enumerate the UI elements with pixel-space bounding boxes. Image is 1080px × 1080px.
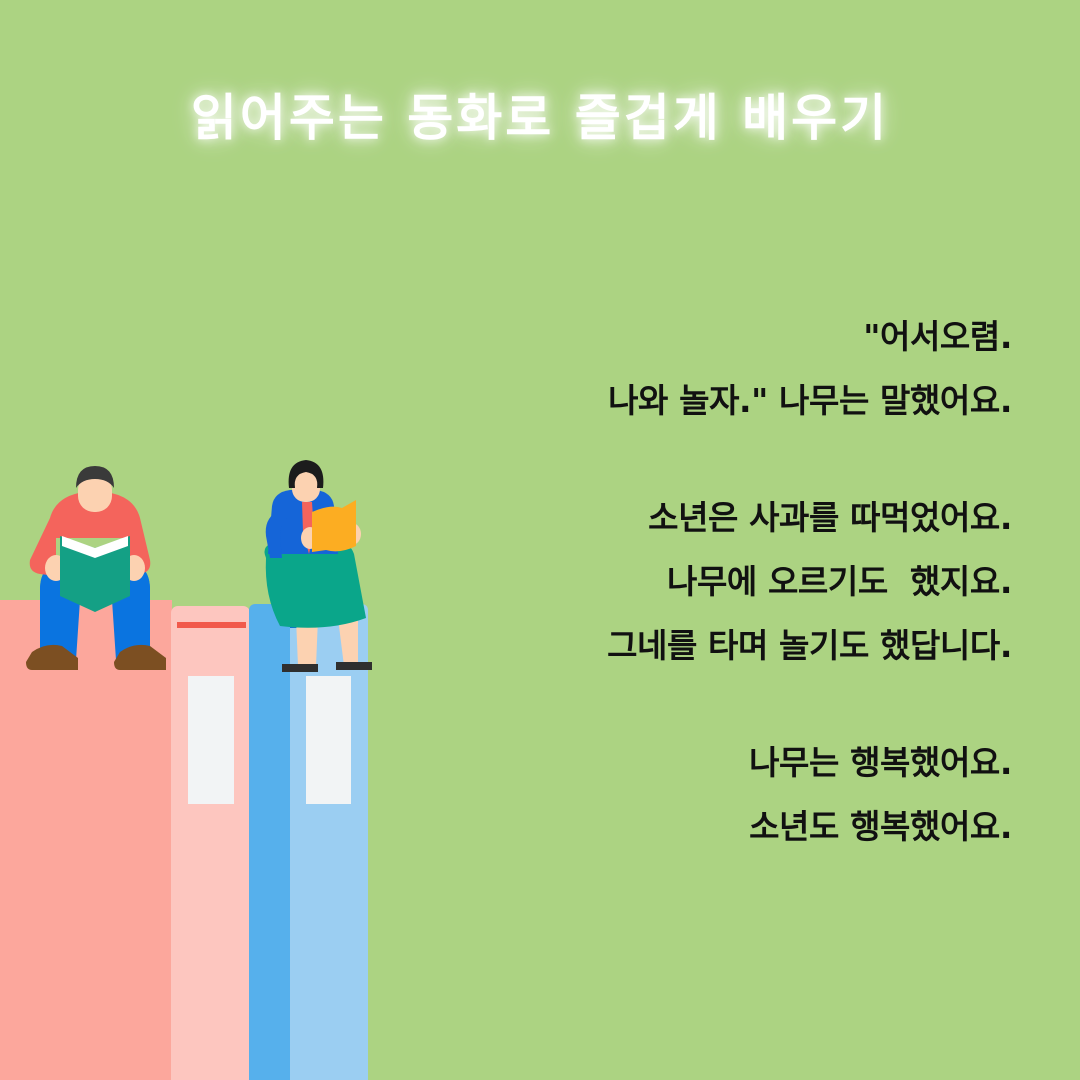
woman-arm [266,512,288,558]
man-book-pages [62,536,128,558]
story-text-block: "어서오렴. 나와 놀자." 나무는 말했어요. 소년은 사과를 따먹었어요. … [292,320,1012,843]
line-gap [292,534,1012,565]
story-line-2: 나와 놀자." 나무는 말했어요. [292,384,1012,417]
man-left-hand [45,555,67,581]
salmon-book [0,600,172,1080]
pink-book-spine-label [188,676,234,804]
story-line-6: 나무는 행복했어요. [292,746,1012,779]
man-hair [76,466,114,488]
story-line-4: 나무에 오르기도 했지요. [292,565,1012,598]
pink-book-stripe [177,622,246,628]
story-line-3: 소년은 사과를 따먹었어요. [292,501,1012,534]
man-right-hand [123,555,145,581]
line-gap [292,598,1012,629]
story-line-1: "어서오렴. [292,320,1012,353]
story-line-7: 소년도 행복했어요. [292,810,1012,843]
line-gap [292,779,1012,810]
man-head [78,474,112,512]
blue-book-spine [249,604,291,1080]
line-gap [292,353,1012,384]
page-title: 읽어주는 동화로 즐겁게 배우기 [0,78,1080,150]
paragraph-gap [292,662,1012,746]
poster-canvas: 읽어주는 동화로 즐겁게 배우기 [0,0,1080,1080]
paragraph-gap [292,417,1012,501]
man-sweater [30,492,151,576]
story-line-5: 그네를 타며 놀기도 했답니다. [292,629,1012,662]
man-lap [40,562,150,590]
